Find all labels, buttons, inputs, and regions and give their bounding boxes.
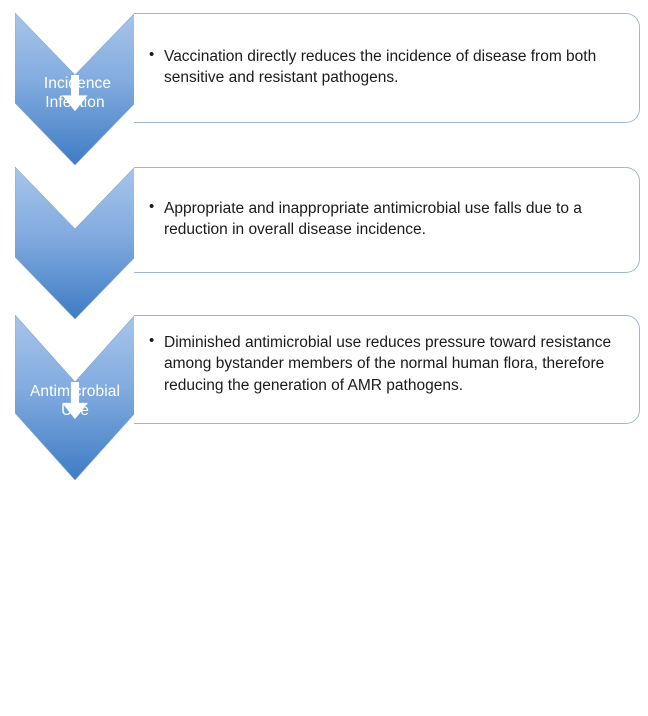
callout-box[interactable]: Diminished antimicrobial use reduces pre…: [134, 315, 640, 424]
chevron-label: Incidence Infection: [15, 75, 135, 112]
bullet-list: Vaccination directly reduces the inciden…: [134, 14, 639, 89]
list-item: Diminished antimicrobial use reduces pre…: [148, 332, 625, 396]
process-flow-diagram: Incidence Infection Vaccination directly…: [0, 0, 648, 486]
bullet-list: Diminished antimicrobial use reduces pre…: [134, 316, 639, 396]
list-item: Vaccination directly reduces the inciden…: [148, 46, 621, 89]
chevron-graphic: [15, 167, 135, 319]
list-item: Appropriate and inappropriate antimicrob…: [148, 198, 621, 241]
chevron-shape-incidence-infection[interactable]: Incidence Infection: [15, 13, 135, 165]
callout-box[interactable]: Vaccination directly reduces the inciden…: [134, 13, 640, 123]
chevron-label: Antimicrobial Use: [15, 382, 135, 420]
bullet-list: Appropriate and inappropriate antimicrob…: [134, 168, 639, 241]
chevron-label: Pressure for AMR: [15, 679, 135, 716]
chevron-shape-antimicrobial-use[interactable]: Antimicrobial Use: [15, 167, 135, 319]
callout-box[interactable]: Appropriate and inappropriate antimicrob…: [134, 167, 640, 273]
